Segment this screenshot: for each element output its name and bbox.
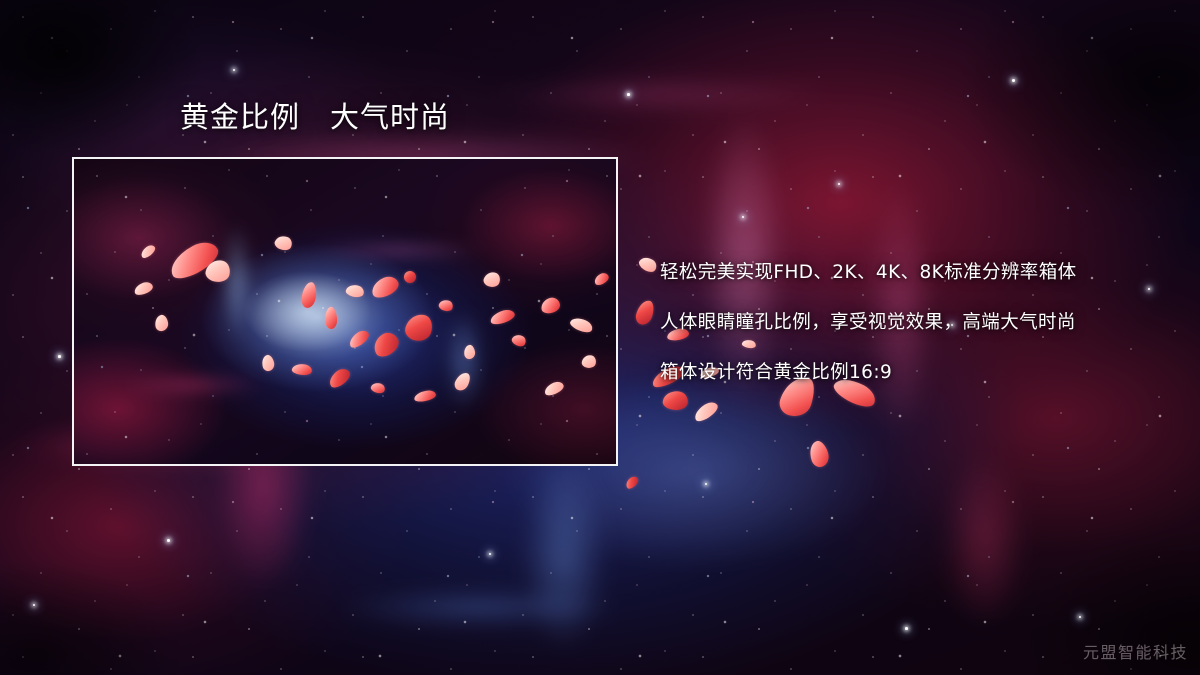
bright-star xyxy=(489,553,491,555)
bright-star xyxy=(627,93,630,96)
petal xyxy=(624,475,641,491)
body-line-1: 轻松完美实现FHD、2K、4K、8K标准分辨率箱体 xyxy=(660,258,1180,284)
bright-star xyxy=(705,483,707,485)
nebula-photo-frame[interactable] xyxy=(72,157,618,466)
bright-star xyxy=(1079,616,1081,618)
petal xyxy=(692,399,721,424)
petal xyxy=(634,298,656,326)
body-copy: 轻松完美实现FHD、2K、4K、8K标准分辨率箱体 人体眼睛瞳孔比例，享受视觉效… xyxy=(660,258,1180,384)
frame-nebula-filaments xyxy=(74,159,616,464)
bright-star xyxy=(233,69,235,71)
petal xyxy=(662,389,689,411)
bright-star xyxy=(167,539,170,542)
bright-star xyxy=(58,355,61,358)
bright-star xyxy=(742,216,744,218)
body-line-2: 人体眼睛瞳孔比例，享受视觉效果，高端大气时尚 xyxy=(660,308,1180,334)
body-line-3: 箱体设计符合黄金比例16:9 xyxy=(660,358,1180,384)
petal xyxy=(637,254,659,275)
presentation-slide: 黄金比例 大气时尚 轻松完美实现FHD、2K、4K、8K标准分辨率箱体 人体眼睛… xyxy=(0,0,1200,675)
bright-star xyxy=(905,627,908,630)
watermark: 元盟智能科技 xyxy=(1083,639,1188,663)
bright-star xyxy=(838,183,840,185)
bright-star xyxy=(33,604,35,606)
bright-star xyxy=(1012,79,1015,82)
page-title: 黄金比例 大气时尚 xyxy=(180,101,450,134)
petal xyxy=(806,439,831,469)
